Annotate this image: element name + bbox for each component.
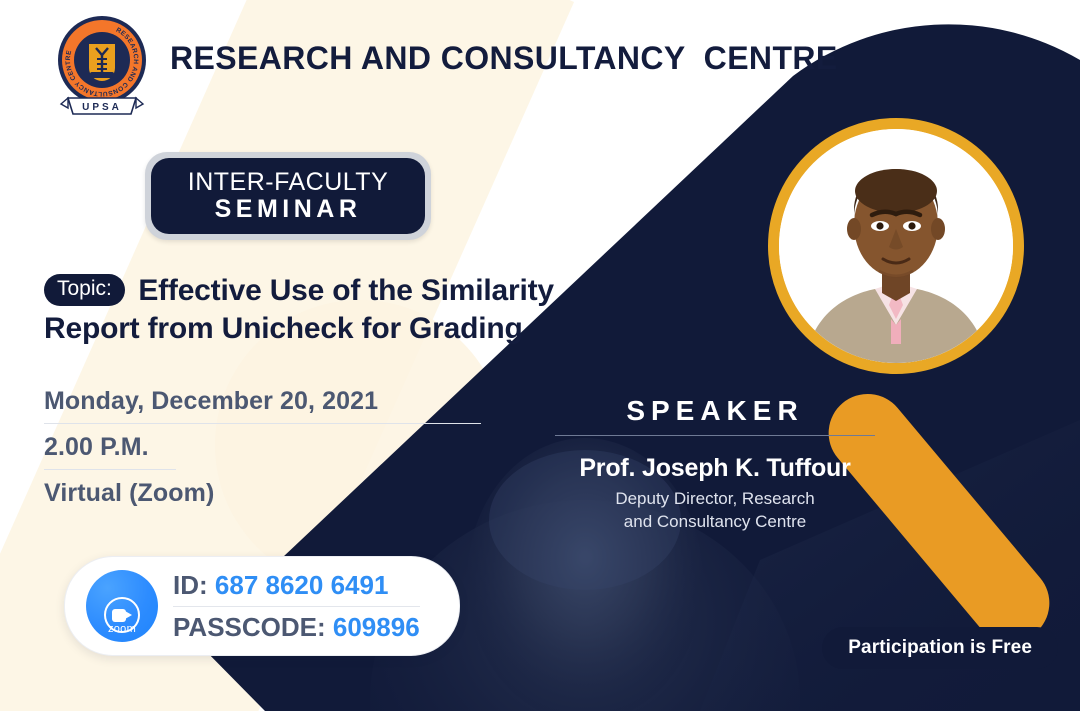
- zoom-passcode-label: PASSCODE:: [173, 612, 326, 642]
- zoom-wordmark: zoom: [86, 623, 158, 635]
- topic-block: Topic: Effective Use of the Similarity R…: [44, 272, 644, 349]
- speaker-block: SPEAKER Prof. Joseph K. Tuffour Deputy D…: [530, 395, 900, 534]
- detail-venue: Virtual (Zoom): [44, 479, 494, 515]
- speaker-role: Deputy Director, Research and Consultanc…: [530, 488, 900, 534]
- speaker-role-line1: Deputy Director, Research: [530, 488, 900, 511]
- participation-free-badge: Participation is Free: [822, 627, 1058, 669]
- seminar-badge-line1: INTER-FACULTY: [188, 169, 389, 195]
- seminar-badge: INTER-FACULTY SEMINAR: [145, 152, 431, 240]
- zoom-meeting-id-row[interactable]: ID: 687 8620 6491: [173, 570, 420, 607]
- speaker-name: Prof. Joseph K. Tuffour: [530, 454, 900, 483]
- speaker-kicker: SPEAKER: [555, 395, 875, 436]
- event-details: Monday, December 20, 2021 2.00 P.M. Virt…: [44, 387, 494, 524]
- zoom-id-label: ID:: [173, 570, 208, 600]
- speaker-role-line2: and Consultancy Centre: [530, 511, 900, 534]
- zoom-passcode-value: 609896: [333, 612, 420, 642]
- topic-label-pill: Topic:: [44, 274, 125, 306]
- svg-text:UPSA: UPSA: [82, 102, 122, 113]
- seminar-badge-inner: INTER-FACULTY SEMINAR: [151, 158, 425, 234]
- seminar-badge-line2: SEMINAR: [215, 195, 362, 224]
- zoom-credentials-card[interactable]: zoom ID: 687 8620 6491 PASSCODE: 609896: [64, 556, 460, 656]
- speaker-portrait: [768, 118, 1024, 374]
- zoom-id-value: 687 8620 6491: [215, 570, 389, 600]
- video-camera-icon: [112, 609, 132, 622]
- seminar-flyer: RESEARCH AND CONSULTANCY CENTRE UPSA RES…: [0, 0, 1080, 711]
- zoom-credentials: ID: 687 8620 6491 PASSCODE: 609896: [173, 570, 420, 643]
- page-title: RESEARCH AND CONSULTANCY CENTRE: [170, 40, 838, 77]
- upsa-research-consultancy-centre-seal: RESEARCH AND CONSULTANCY CENTRE UPSA: [52, 14, 152, 118]
- zoom-icon: zoom: [86, 570, 158, 642]
- detail-time: 2.00 P.M.: [44, 433, 176, 470]
- detail-date: Monday, December 20, 2021: [44, 387, 481, 424]
- zoom-passcode-row[interactable]: PASSCODE: 609896: [173, 612, 420, 643]
- speaker-portrait-image: [779, 129, 1013, 363]
